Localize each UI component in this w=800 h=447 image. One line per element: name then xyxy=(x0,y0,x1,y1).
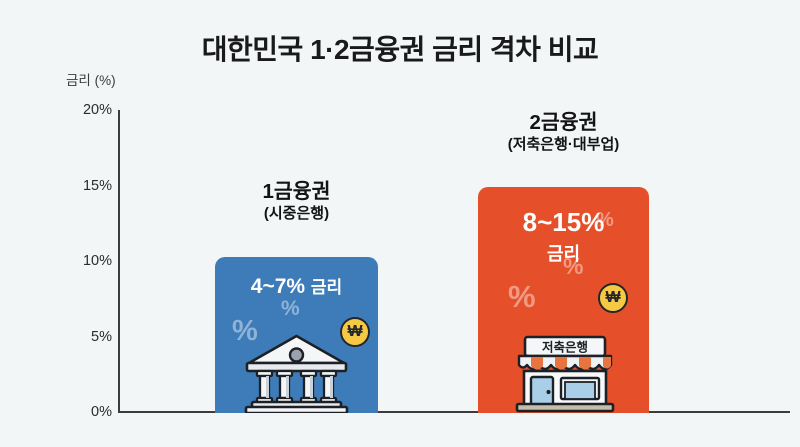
won-symbol: ₩ xyxy=(605,290,620,306)
won-coin-icon: ₩ xyxy=(340,317,370,347)
storefront-sign-label: 저축은행 xyxy=(542,340,588,355)
bar-1-rate-unit: 금리 xyxy=(311,278,342,297)
bar-2-rate-unit: 금리 xyxy=(478,240,649,266)
bar-2-rate-range: 8~15% xyxy=(478,207,649,238)
bar-1-rate-text: 4~7% 금리 xyxy=(215,273,378,299)
y-tick-5: 5% xyxy=(58,329,112,345)
won-coin-icon: ₩ xyxy=(598,283,628,313)
bar-label-sub-1: (시중은행) xyxy=(205,204,388,224)
bar-label-group-1: 1금융권 (시중은행) xyxy=(205,180,388,223)
bar-1-금융권[interactable]: 4~7% 금리 % % ₩ xyxy=(215,257,378,413)
bar-2-금융권[interactable]: 8~15% 금리 % % % ₩ 저축은행 xyxy=(478,187,649,413)
y-tick-15: 15% xyxy=(58,178,112,194)
bank-building-icon xyxy=(244,333,349,413)
won-symbol: ₩ xyxy=(347,324,362,340)
storefront-icon: 저축은행 xyxy=(511,335,619,413)
y-tick-10: 10% xyxy=(58,253,112,269)
y-axis-line xyxy=(118,110,120,413)
chart-title: 대한민국 1·2금융권 금리 격차 비교 xyxy=(0,28,800,68)
y-tick-20: 20% xyxy=(58,102,112,118)
chart-container: 대한민국 1·2금융권 금리 격차 비교 금리 (%) 20% 15% 10% … xyxy=(0,0,800,447)
y-tick-0: 0% xyxy=(58,404,112,420)
bar-label-main-2: 2금융권 xyxy=(455,111,672,135)
bar-label-sub-2: (저축은행·대부업) xyxy=(455,135,672,155)
percent-glyph-icon: % xyxy=(281,297,300,321)
bar-1-rate-range: 4~7% xyxy=(251,275,305,298)
bar-label-main-1: 1금융권 xyxy=(205,180,388,204)
y-axis-ticks: 20% 15% 10% 5% 0% xyxy=(0,0,112,447)
bar-label-group-2: 2금융권 (저축은행·대부업) xyxy=(455,111,672,154)
percent-glyph-icon: % xyxy=(508,279,536,315)
